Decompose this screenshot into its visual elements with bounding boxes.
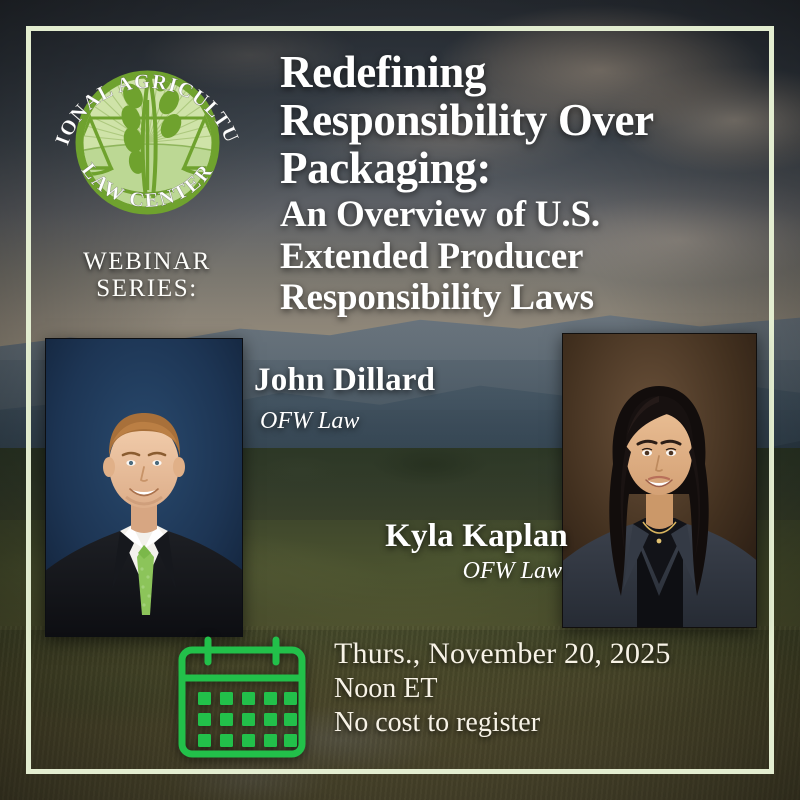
speaker-name: John Dillard (254, 362, 435, 398)
title-sub-line3: Responsibility Laws (280, 277, 770, 318)
event-date: Thurs., November 20, 2025 (334, 636, 671, 672)
webinar-series-label: WEBINAR SERIES: (42, 249, 252, 303)
event-time: Noon ET (334, 672, 671, 706)
organization-logo-block: NATIONAL AGRICULTURAL LAW CENTER WEBINAR… (42, 40, 252, 303)
speaker-photo-john-dillard (45, 338, 243, 637)
title-main-line2: Responsibility Over (280, 96, 770, 144)
speaker-organization: OFW Law (318, 556, 562, 586)
title-main: Redefining Responsibility Over Packaging… (280, 48, 770, 192)
speaker-name: Kyla Kaplan (318, 518, 568, 554)
title-sub-line2: Extended Producer (280, 236, 770, 277)
event-details: Thurs., November 20, 2025 Noon ET No cos… (334, 636, 671, 740)
speaker-organization: OFW Law (260, 406, 435, 436)
headshot-illustration (563, 334, 756, 627)
title-sub-line1: An Overview of U.S. (280, 194, 770, 235)
page-title: Redefining Responsibility Over Packaging… (280, 48, 770, 319)
webinar-promo-poster: NATIONAL AGRICULTURAL LAW CENTER WEBINAR… (0, 0, 800, 800)
speaker-photo-kyla-kaplan (562, 333, 757, 628)
calendar-icon (172, 636, 312, 758)
title-main-line3: Packaging: (280, 144, 770, 192)
event-cost: No cost to register (334, 706, 671, 740)
calendar-icon-wrapper (172, 636, 312, 758)
webinar-series-line2: SERIES: (42, 276, 252, 303)
speaker-caption-kyla-kaplan: Kyla Kaplan OFW Law (318, 518, 568, 586)
title-subtitle: An Overview of U.S. Extended Producer Re… (280, 194, 770, 318)
title-main-line1: Redefining (280, 48, 770, 96)
webinar-series-line1: WEBINAR (42, 249, 252, 276)
speaker-caption-john-dillard: John Dillard OFW Law (254, 362, 435, 436)
national-agricultural-law-center-logo-icon: NATIONAL AGRICULTURAL LAW CENTER (45, 40, 250, 245)
headshot-illustration (46, 339, 242, 636)
